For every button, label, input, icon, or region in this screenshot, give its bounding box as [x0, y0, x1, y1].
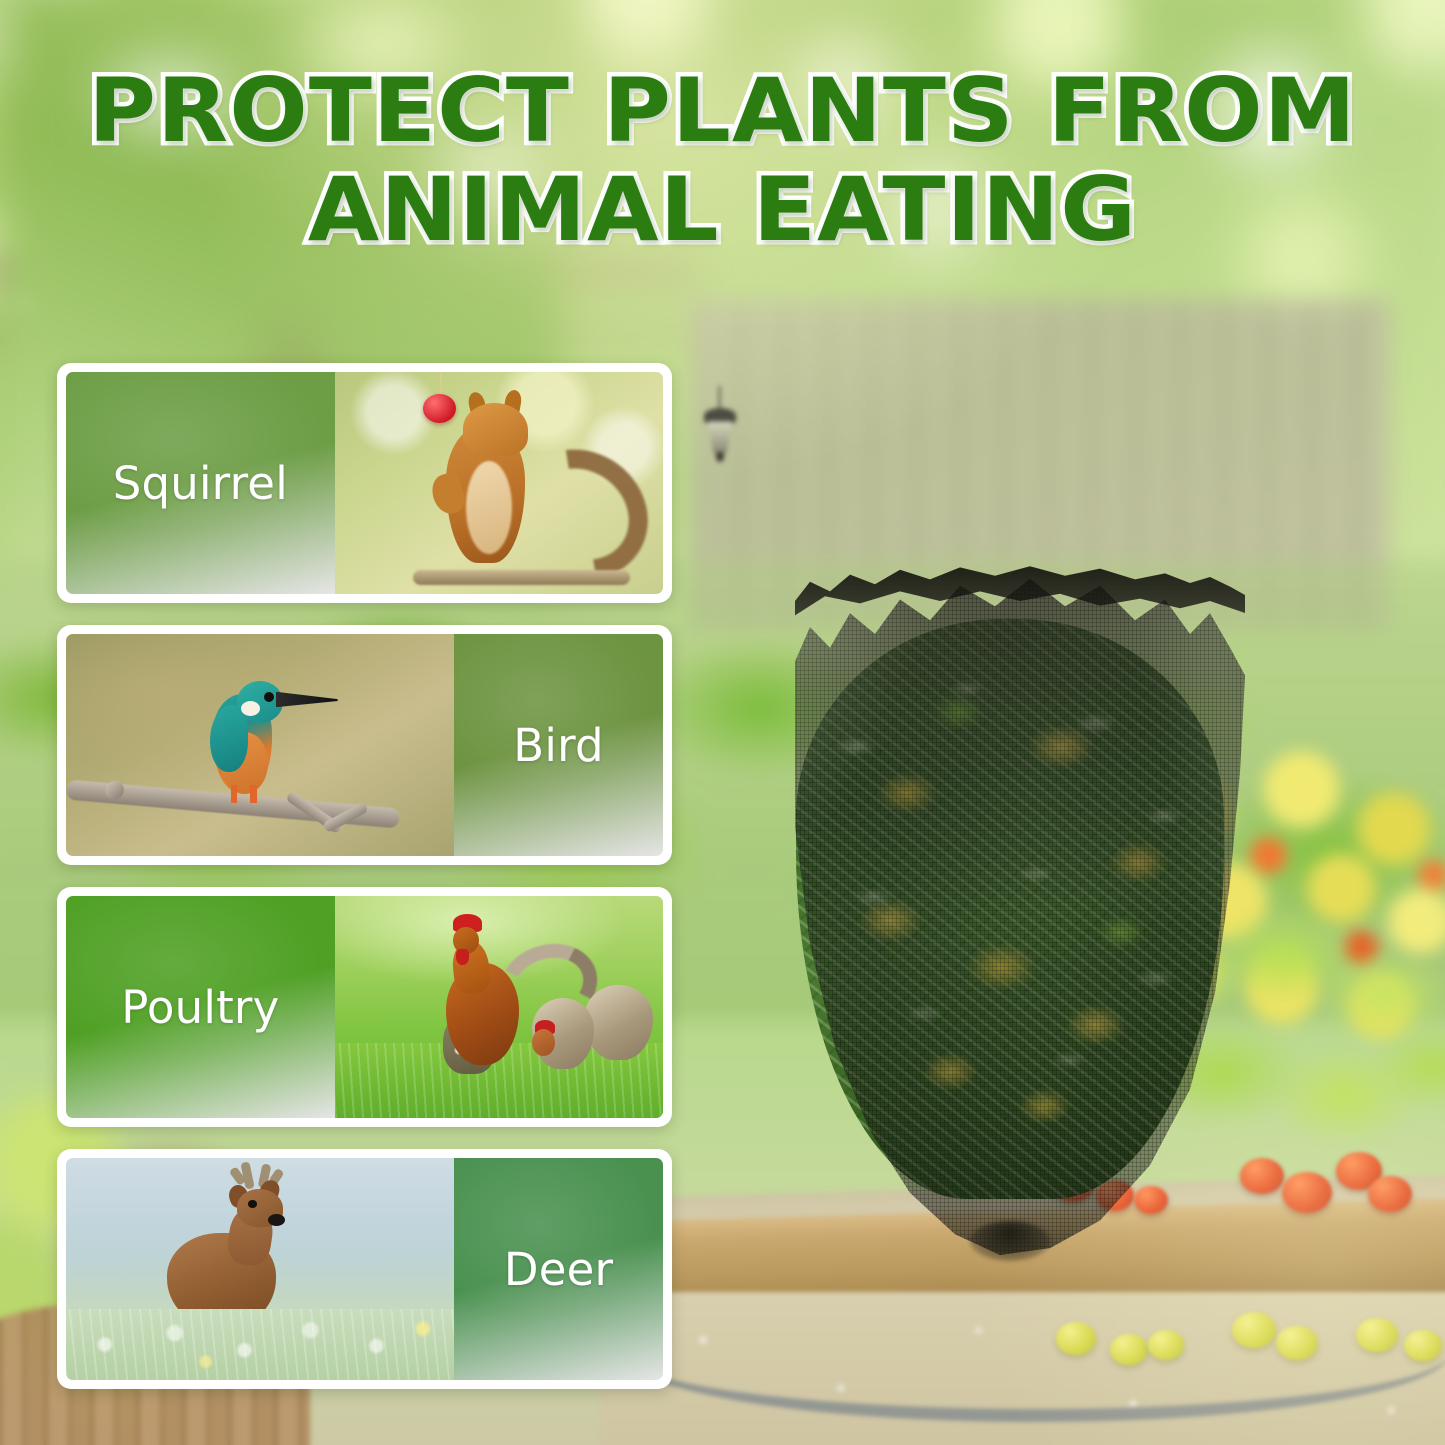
- tomato-yellow: [1056, 1322, 1096, 1355]
- animal-photo-poultry: [335, 896, 663, 1118]
- animal-card-squirrel: Squirrel: [57, 363, 672, 603]
- label-pane-bird: Bird: [454, 634, 663, 856]
- tomato-yellow: [1110, 1334, 1148, 1365]
- animal-label: Squirrel: [113, 457, 288, 510]
- animal-photo-deer: [66, 1158, 454, 1380]
- product-mesh-bag: [760, 565, 1260, 1255]
- title-line-2: ANIMAL EATING: [0, 161, 1445, 260]
- tomato-red: [1282, 1172, 1332, 1213]
- deer-nose: [268, 1214, 285, 1226]
- kingfisher-eye: [264, 692, 274, 702]
- tomato-yellow: [1232, 1312, 1276, 1348]
- tomato-red: [1368, 1176, 1412, 1212]
- animal-label: Poultry: [121, 981, 279, 1034]
- animal-card-list: Squirrel Bird: [57, 363, 672, 1389]
- tomato-yellow: [1404, 1330, 1442, 1361]
- kingfisher-leg: [250, 785, 256, 803]
- garden-lantern-icon: [696, 386, 744, 478]
- kingfisher-beak: [276, 692, 338, 708]
- kingfisher-cheek: [241, 701, 260, 717]
- meadow-flowers: [66, 1309, 454, 1380]
- animal-card-bird: Bird: [57, 625, 672, 865]
- animal-label: Bird: [513, 719, 603, 772]
- animal-photo-bird: [66, 634, 454, 856]
- squirrel-head: [463, 403, 529, 456]
- product-poster: PROTECT PLANTS FROM ANIMAL EATING Squirr…: [0, 0, 1445, 1445]
- page-title: PROTECT PLANTS FROM ANIMAL EATING: [0, 62, 1445, 259]
- animal-card-poultry: Poultry: [57, 887, 672, 1127]
- label-pane-poultry: Poultry: [66, 896, 335, 1118]
- kingfisher-leg: [231, 785, 237, 803]
- deer-eye: [248, 1200, 257, 1208]
- title-line-1: PROTECT PLANTS FROM: [0, 62, 1445, 161]
- animal-label: Deer: [504, 1243, 613, 1296]
- garden-hose: [620, 1352, 1445, 1422]
- animal-photo-squirrel: [335, 372, 663, 594]
- label-pane-deer: Deer: [454, 1158, 663, 1380]
- mesh-drawstring-cinch: [970, 1221, 1050, 1261]
- hen-head: [532, 1029, 555, 1056]
- squirrel-chest: [466, 461, 512, 554]
- hen-body: [584, 985, 653, 1060]
- animal-card-deer: Deer: [57, 1149, 672, 1389]
- tomato-yellow: [1148, 1330, 1184, 1360]
- rooster-wattle: [456, 949, 469, 965]
- raspberry-icon: [423, 394, 456, 423]
- label-pane-squirrel: Squirrel: [66, 372, 335, 594]
- tree-branch: [413, 570, 630, 586]
